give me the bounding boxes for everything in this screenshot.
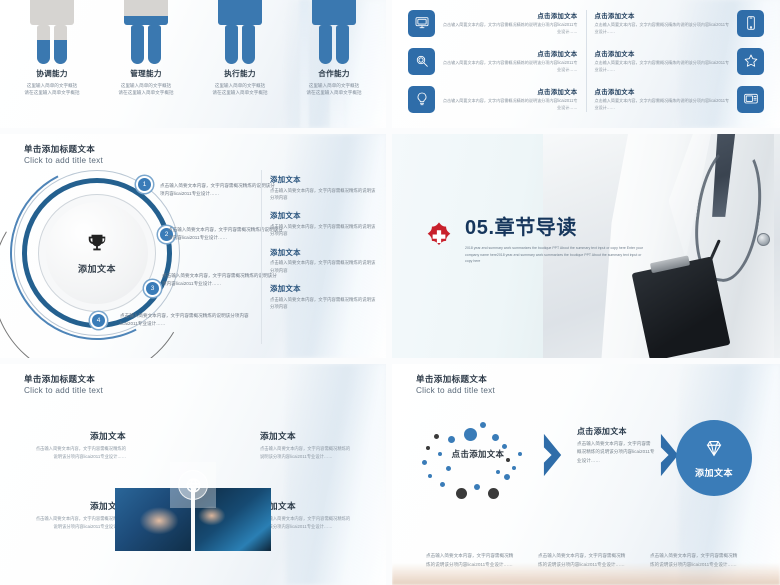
cluster-dot <box>464 428 477 441</box>
slide-thumbnail-board: 协调能力这里输入简单的文字概括请在这里输入简单文字概括管理能力这里输入简单的文字… <box>0 0 780 585</box>
people-column: 执行能力这里输入简单的文字概括请在这里输入简单文字概括 <box>210 0 270 76</box>
icon-card-heading: 点击添加文本 <box>442 11 578 20</box>
text-block-heading: 添加文本 <box>34 430 126 442</box>
page-title: 单击添加标题文本 Click to add title text <box>24 144 103 166</box>
people-subtext-2: 请在这里输入简单文字概括 <box>304 89 364 97</box>
step-3-circle[interactable]: 添加文本 <box>676 420 752 496</box>
cluster-dot <box>434 434 439 439</box>
cover-text-group: 05.章节导读 2018 year-end summary work summa… <box>422 218 645 265</box>
panel-block-4: 添加文本点击输入简要文本内容，文字内容需概况精炼的说明该分项内容 <box>270 283 378 310</box>
cluster-dot <box>504 474 510 480</box>
step-text-3-body: 点击输入简要文本内容，文字内容需概况精炼的说明该分项内容licai2011专业设… <box>162 272 280 288</box>
people-caption: 协调能力这里输入简单的文字概括请在这里输入简单文字概括 <box>22 68 82 97</box>
slide-thumbnail-photo-grid[interactable]: 单击添加标题文本 Click to add title text 添加文本 点击… <box>0 364 386 585</box>
icon-card-body: 点击输入简要文本内容，文字内容需概况精炼的说明该分项内容licai2011专业设… <box>595 60 731 73</box>
icon-card-body: 点击输入简要文本内容，文字内容需概况精炼的说明该分项内容licai2011专业设… <box>442 22 578 35</box>
cluster-dot <box>474 484 480 490</box>
text-block-bottom-left: 添加文本 点击输入简要文本内容，文字内容需概况精炼的说明该分项内容licai20… <box>34 500 126 530</box>
slide-thumbnail-circle-diagram[interactable]: 单击添加标题文本 Click to add title text 添加文本 1 … <box>0 134 386 358</box>
panel-body: 点击输入简要文本内容，文字内容需概况精炼的说明该分项内容 <box>270 223 378 238</box>
panel-block-3: 添加文本点击输入简要文本内容，文字内容需概况精炼的说明该分项内容 <box>270 247 378 274</box>
panel-heading: 添加文本 <box>270 210 378 221</box>
text-block-heading: 添加文本 <box>260 430 352 442</box>
text-block-top-left: 添加文本 点击输入简要文本内容，文字内容需概况精炼的说明该分项内容licai20… <box>34 430 126 460</box>
slide-thumbnail-people-chart[interactable]: 协调能力这里输入简单的文字概括请在这里输入简单文字概括管理能力这里输入简单的文字… <box>0 0 386 128</box>
text-block-body: 点击输入简要文本内容，文字内容需概况精炼的说明该分项内容licai2011专业设… <box>260 445 352 460</box>
step-3-label: 添加文本 <box>695 466 733 479</box>
cluster-dot <box>446 466 451 471</box>
icon-card-heading: 点击添加文本 <box>442 87 578 96</box>
people-column: 管理能力这里输入简单的文字概括请在这里输入简单文字概括 <box>116 0 176 76</box>
people-caption: 管理能力这里输入简单的文字概括请在这里输入简单文字概括 <box>116 68 176 97</box>
stethoscope-chestpiece <box>757 233 770 246</box>
people-infographic: 协调能力这里输入简单的文字概括请在这里输入简单文字概括管理能力这里输入简单的文字… <box>0 0 386 76</box>
step-node-3[interactable]: 3 <box>144 280 161 297</box>
panel-block-2: 添加文本点击输入简要文本内容，文字内容需概况精炼的说明该分项内容 <box>270 210 378 237</box>
text-block-heading: 添加文本 <box>34 500 126 512</box>
person-figure-1 <box>30 0 74 64</box>
cluster-dot <box>492 434 499 441</box>
text-block-body: 点击输入简要文本内容，文字内容需概况精炼的说明该分项内容licai2011专业设… <box>34 445 126 460</box>
step-text-2-body: 点击输入简要文本内容，文字内容需概况精炼的说明该分项内容licai2011专业设… <box>168 226 286 242</box>
person-figure-4 <box>312 0 356 64</box>
search-icon[interactable] <box>408 48 435 75</box>
icon-card-body: 点击输入简要文本内容，文字内容需概况精炼的说明该分项内容licai2011专业设… <box>595 98 731 111</box>
page-title-en: Click to add title text <box>24 386 103 396</box>
page-title-cn: 单击添加标题文本 <box>416 374 495 385</box>
icon-card-right-2[interactable]: 点击添加文本点击输入简要文本内容，文字内容需概况精炼的说明该分项内容licai2… <box>595 48 765 75</box>
icon-card-heading: 点击添加文本 <box>442 49 578 58</box>
diamond-icon <box>703 437 725 464</box>
icon-card-left-2[interactable]: 点击添加文本点击输入简要文本内容，文字内容需概况精炼的说明该分项内容licai2… <box>408 48 578 75</box>
people-subtext-1: 这里输入简单的文字概括 <box>304 82 364 90</box>
page-title-en: Click to add title text <box>24 156 103 166</box>
panel-body: 点击输入简要文本内容，文字内容需概况精炼的说明该分项内容 <box>270 187 378 202</box>
text-block-heading: 添加文本 <box>260 500 352 512</box>
icon-card-heading: 点击添加文本 <box>595 87 731 96</box>
step-2-body: 点击输入简要文本内容，文字内容需概况精炼的说明该分项内容licai2011专业设… <box>577 440 655 465</box>
right-text-panel: 添加文本点击输入简要文本内容，文字内容需概况精炼的说明该分项内容添加文本点击输入… <box>270 174 378 320</box>
person-figure-3 <box>218 0 262 64</box>
text-block-bottom-right: 添加文本 点击输入简要文本内容，文字内容需概况精炼的说明该分项内容licai20… <box>260 500 352 530</box>
step-text-4: 点击输入简要文本内容，文字内容需概况精炼的说明该分项内容licai2011专业设… <box>120 312 260 328</box>
cluster-dot <box>480 422 486 428</box>
icon-card-body: 点击输入简要文本内容，文字内容需概况精炼的说明该分项内容licai2011专业设… <box>595 22 731 35</box>
cluster-dot <box>456 488 467 499</box>
text-block-body: 点击输入简要文本内容，文字内容需概况精炼的说明该分项内容licai2011专业设… <box>34 515 126 530</box>
section-subtitle: 2018 year-end summary work summarizes th… <box>465 245 645 265</box>
people-subtext-1: 这里输入简单的文字概括 <box>116 82 176 90</box>
tv-icon[interactable] <box>737 86 764 113</box>
globe-icon <box>178 470 208 500</box>
people-label: 执行能力 <box>210 68 270 79</box>
people-subtext-2: 请在这里输入简单文字概括 <box>210 89 270 97</box>
people-label: 协调能力 <box>22 68 82 79</box>
icon-card-left-3[interactable]: 点击添加文本点击输入简要文本内容，文字内容需概况精炼的说明该分项内容licai2… <box>408 86 578 113</box>
text-block-top-right: 添加文本 点击输入简要文本内容，文字内容需概况精炼的说明该分项内容licai20… <box>260 430 352 460</box>
vertical-divider <box>586 10 587 112</box>
cluster-dot <box>448 436 455 443</box>
slide-thumbnail-icon-cards[interactable]: 点击添加文本点击输入简要文本内容，文字内容需概况精炼的说明该分项内容licai2… <box>392 0 780 128</box>
slide-background-blur <box>286 364 386 585</box>
icon-card-heading: 点击添加文本 <box>595 49 731 58</box>
slide-thumbnail-process-flow[interactable]: 单击添加标题文本 Click to add title text 点击添加文本 … <box>392 364 780 585</box>
diagram-center-label: 添加文本 <box>78 262 116 275</box>
panel-body: 点击输入简要文本内容，文字内容需概况精炼的说明该分项内容 <box>270 259 378 274</box>
cluster-dot <box>488 488 499 499</box>
cluster-dot <box>422 460 427 465</box>
step-2-heading: 点击添加文本 <box>577 426 655 437</box>
star-icon[interactable] <box>737 48 764 75</box>
panel-heading: 添加文本 <box>270 247 378 258</box>
red-medical-cross-icon <box>422 221 456 255</box>
diagram-center[interactable]: 添加文本 <box>38 194 156 312</box>
step-text-3: 点击输入简要文本内容，文字内容需概况精炼的说明该分项内容licai2011专业设… <box>162 272 280 288</box>
panel-body: 点击输入简要文本内容，文字内容需概况精炼的说明该分项内容 <box>270 296 378 311</box>
smartphone-icon[interactable] <box>737 10 764 37</box>
photo-grid <box>115 419 271 551</box>
icon-card-body: 点击输入简要文本内容，文字内容需概况精炼的说明该分项内容licai2011专业设… <box>442 98 578 111</box>
process-flow: 点击添加文本 点击添加文本 点击输入简要文本内容，文字内容需概况精炼的说明该分项… <box>414 410 762 530</box>
icon-card-body: 点击输入简要文本内容，文字内容需概况精炼的说明该分项内容licai2011专业设… <box>442 60 578 73</box>
page-title-cn: 单击添加标题文本 <box>24 144 103 155</box>
trophy-icon <box>86 232 108 259</box>
cluster-dot <box>428 474 432 478</box>
text-block-body: 点击输入简要文本内容，文字内容需概况精炼的说明该分项内容licai2011专业设… <box>260 515 352 530</box>
step-node-4[interactable]: 4 <box>90 312 107 329</box>
people-label: 合作能力 <box>304 68 364 79</box>
step-text-4-body: 点击输入简要文本内容，文字内容需概况精炼的说明该分项内容licai2011专业设… <box>120 312 260 328</box>
step-2-block: 点击添加文本 点击输入简要文本内容，文字内容需概况精炼的说明该分项内容licai… <box>577 426 655 465</box>
people-subtext-1: 这里输入简单的文字概括 <box>210 82 270 90</box>
icon-card-heading: 点击添加文本 <box>595 11 731 20</box>
icon-card-column-right: 点击添加文本点击输入简要文本内容，文字内容需概况精炼的说明该分项内容licai2… <box>595 4 765 118</box>
people-column: 合作能力这里输入简单的文字概括请在这里输入简单文字概括 <box>304 0 364 76</box>
panel-block-1: 添加文本点击输入简要文本内容，文字内容需概况精炼的说明该分项内容 <box>270 174 378 201</box>
people-subtext-1: 这里输入简单的文字概括 <box>22 82 82 90</box>
people-caption: 合作能力这里输入简单的文字概括请在这里输入简单文字概括 <box>304 68 364 97</box>
section-heading: 05.章节导读 <box>465 217 577 239</box>
icon-card-right-1[interactable]: 点击添加文本点击输入简要文本内容，文字内容需概况精炼的说明该分项内容licai2… <box>595 10 765 37</box>
page-title-cn: 单击添加标题文本 <box>24 374 103 385</box>
page-title: 单击添加标题文本 Click to add title text <box>24 374 103 396</box>
panel-heading: 添加文本 <box>270 283 378 294</box>
center-badge <box>170 462 216 508</box>
cluster-dot <box>440 482 445 487</box>
vertical-divider <box>261 170 262 344</box>
people-subtext-2: 请在这里输入简单文字概括 <box>22 89 82 97</box>
icon-card-left-1[interactable]: 点击添加文本点击输入简要文本内容，文字内容需概况精炼的说明该分项内容licai2… <box>408 10 578 37</box>
step-text-2: 点击输入简要文本内容，文字内容需概况精炼的说明该分项内容licai2011专业设… <box>168 226 286 242</box>
step-1-label: 点击添加文本 <box>422 448 534 460</box>
people-column: 协调能力这里输入简单的文字概括请在这里输入简单文字概括 <box>22 0 82 76</box>
icon-card-layout: 点击添加文本点击输入简要文本内容，文字内容需概况精炼的说明该分项内容licai2… <box>408 4 764 118</box>
people-label: 管理能力 <box>116 68 176 79</box>
step-node-1[interactable]: 1 <box>136 176 153 193</box>
person-figure-2 <box>124 0 168 64</box>
cluster-dot <box>496 470 500 474</box>
chevron-arrow-1 <box>542 432 565 478</box>
panel-heading: 添加文本 <box>270 174 378 185</box>
background-bottom-photo <box>392 563 780 585</box>
lightbulb-icon[interactable] <box>408 86 435 113</box>
slide-thumbnail-section-cover[interactable]: 05.章节导读 2018 year-end summary work summa… <box>392 134 780 358</box>
cluster-dot <box>512 466 516 470</box>
page-title-en: Click to add title text <box>416 386 495 396</box>
monitor-icon[interactable] <box>408 10 435 37</box>
icon-card-right-3[interactable]: 点击添加文本点击输入简要文本内容，文字内容需概况精炼的说明该分项内容licai2… <box>595 86 765 113</box>
icon-card-column-left: 点击添加文本点击输入简要文本内容，文字内容需概况精炼的说明该分项内容licai2… <box>408 4 578 118</box>
page-title: 单击添加标题文本 Click to add title text <box>416 374 495 396</box>
people-caption: 执行能力这里输入简单的文字概括请在这里输入简单文字概括 <box>210 68 270 97</box>
people-subtext-2: 请在这里输入简单文字概括 <box>116 89 176 97</box>
